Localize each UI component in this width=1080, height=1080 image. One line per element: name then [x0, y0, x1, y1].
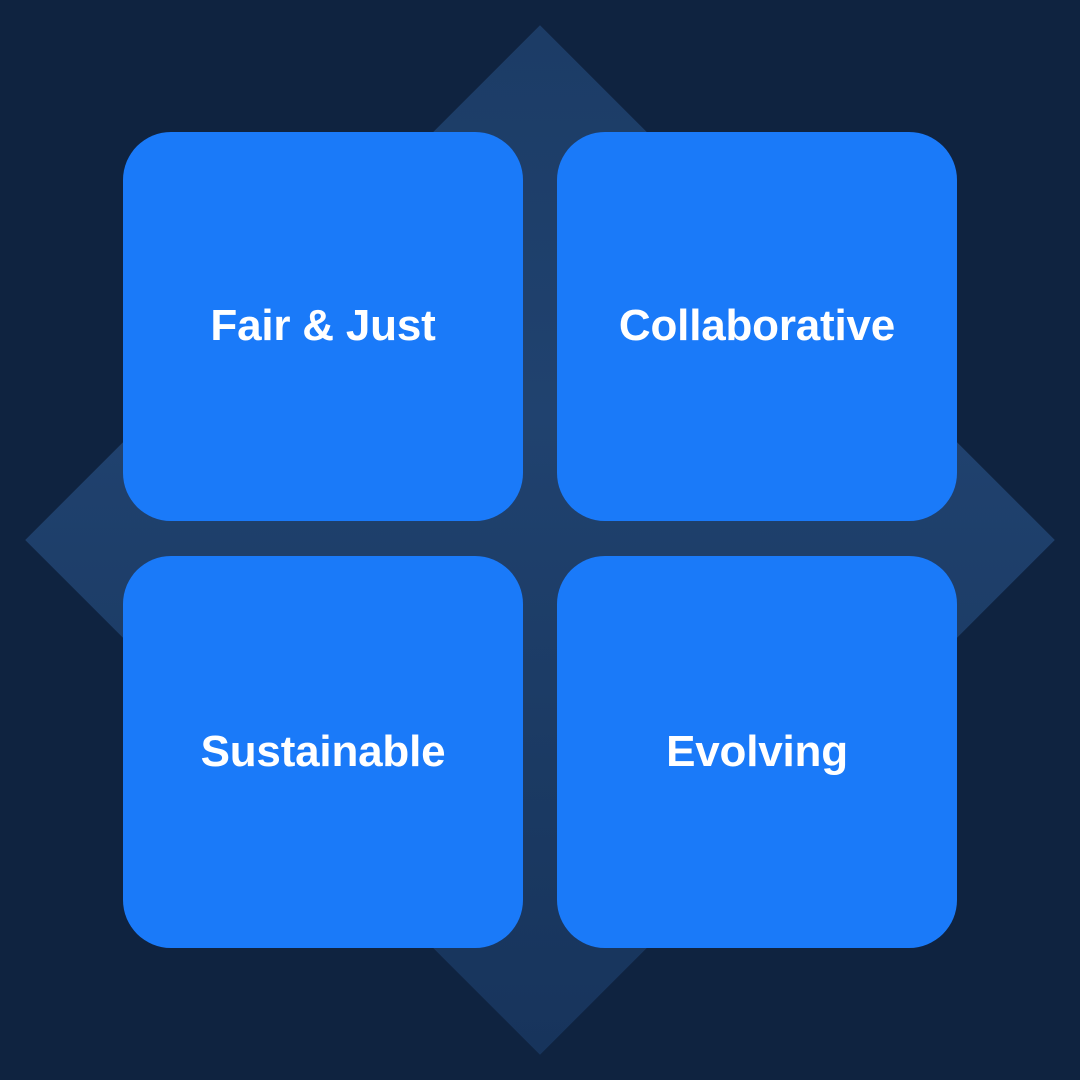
- card-label: Evolving: [666, 729, 848, 775]
- quadrant-card-grid: Fair & Just Collaborative Sustainable Ev…: [123, 132, 957, 948]
- card-sustainable[interactable]: Sustainable: [123, 556, 523, 948]
- card-label: Collaborative: [619, 303, 895, 349]
- card-collaborative[interactable]: Collaborative: [557, 132, 957, 521]
- card-fair-and-just[interactable]: Fair & Just: [123, 132, 523, 521]
- card-label: Sustainable: [201, 729, 446, 775]
- values-quadrant-graphic: Fair & Just Collaborative Sustainable Ev…: [0, 0, 1080, 1080]
- card-label: Fair & Just: [210, 303, 435, 349]
- card-evolving[interactable]: Evolving: [557, 556, 957, 948]
